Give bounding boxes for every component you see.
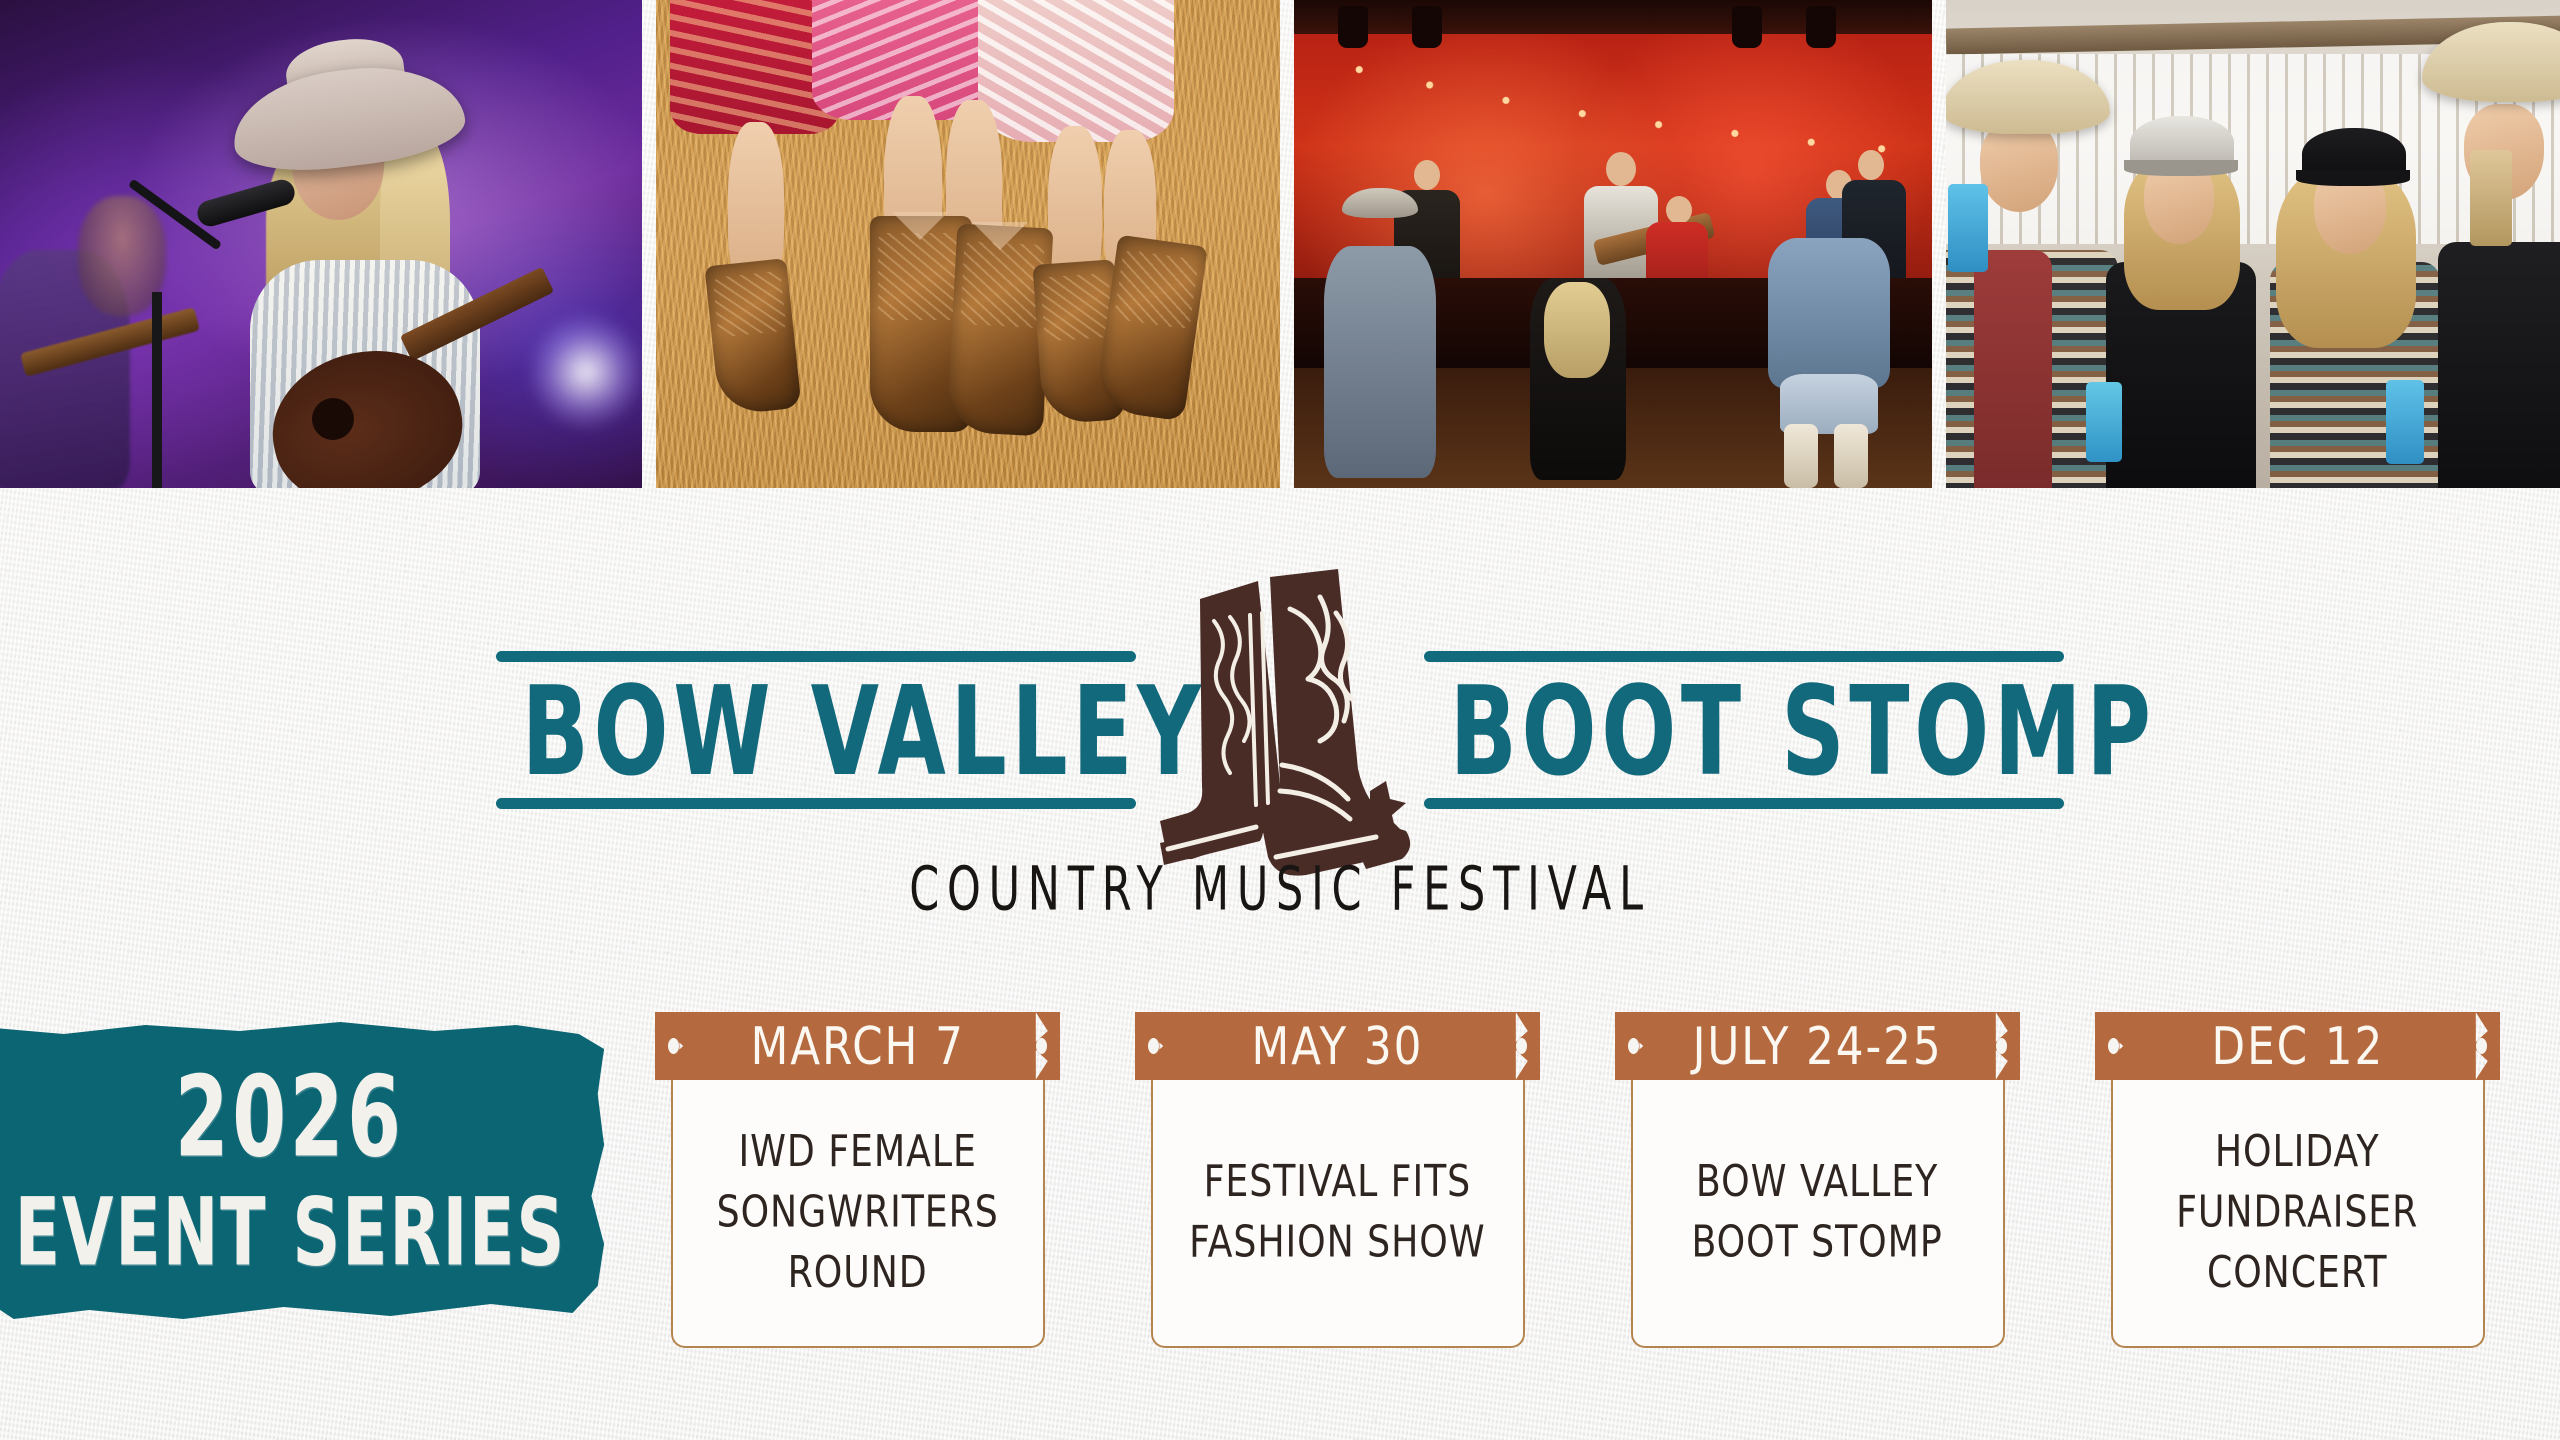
event-card-3[interactable]: JULY 24-25 BOW VALLEYBOOT STOMP: [1615, 1012, 2020, 1362]
badge-label: EVENT SERIES: [14, 1179, 565, 1287]
event-card-body-4: HOLIDAYFUNDRAISERCONCERT: [2111, 1080, 2485, 1348]
event-title-1: IWD FEMALESONGWRITERSROUND: [716, 1123, 998, 1304]
event-card-body-3: BOW VALLEYBOOT STOMP: [1631, 1080, 2005, 1348]
ribbon-dot-left-icon: [1148, 1038, 1159, 1054]
badge-year: 2026: [175, 1053, 405, 1183]
event-card-body-2: FESTIVAL FITSFASHION SHOW: [1151, 1080, 1525, 1348]
event-title-2: FESTIVAL FITSFASHION SHOW: [1189, 1153, 1485, 1274]
logo-word-right: BOOT STOMP: [1450, 675, 2039, 788]
event-title-4: HOLIDAYFUNDRAISERCONCERT: [2176, 1123, 2418, 1304]
event-card-2[interactable]: MAY 30 FESTIVAL FITSFASHION SHOW: [1135, 1012, 1540, 1362]
event-date-ribbon-2: MAY 30: [1135, 1012, 1540, 1080]
event-date-4: DEC 12: [2211, 1016, 2384, 1076]
festival-subtitle: COUNTRY MUSIC FESTIVAL: [179, 854, 2381, 925]
ribbon-dot-left-icon: [1628, 1038, 1639, 1054]
event-date-ribbon-4: DEC 12: [2095, 1012, 2500, 1080]
event-card-1[interactable]: MARCH 7 IWD FEMALESONGWRITERSROUND: [655, 1012, 1060, 1362]
photo-strip: [0, 0, 2560, 488]
photo-singer-purple-stage: [0, 0, 642, 488]
event-date-ribbon-1: MARCH 7: [655, 1012, 1060, 1080]
event-date-ribbon-3: JULY 24-25: [1615, 1012, 2020, 1080]
photo-group-with-drinks: [1946, 0, 2560, 488]
logo-left-block: BOW VALLEY: [496, 651, 1136, 809]
ribbon-dot-left-icon: [2108, 1038, 2119, 1054]
ribbon-dot-right-icon: [1996, 1038, 2007, 1054]
event-series-badge: 2026 EVENT SERIES: [0, 1022, 604, 1322]
event-cards: MARCH 7 IWD FEMALESONGWRITERSROUND MAY 3…: [655, 1012, 2535, 1362]
logo-word-left: BOW VALLEY: [522, 675, 1111, 788]
event-date-2: MAY 30: [1252, 1016, 1424, 1076]
event-card-body-1: IWD FEMALESONGWRITERSROUND: [671, 1080, 1045, 1348]
event-card-4[interactable]: DEC 12 HOLIDAYFUNDRAISERCONCERT: [2095, 1012, 2500, 1362]
logo-right-block: BOOT STOMP: [1424, 651, 2064, 809]
photo-cowboy-boots-grass: [656, 0, 1280, 488]
ribbon-dot-left-icon: [668, 1038, 679, 1054]
event-date-3: JULY 24-25: [1693, 1016, 1943, 1076]
ribbon-dot-right-icon: [1516, 1038, 1527, 1054]
ribbon-dot-right-icon: [1036, 1038, 1047, 1054]
photo-band-red-stage: [1294, 0, 1932, 488]
event-date-1: MARCH 7: [750, 1016, 964, 1076]
ribbon-dot-right-icon: [2476, 1038, 2487, 1054]
festival-logo: BOW VALLEY: [0, 560, 2560, 900]
event-title-3: BOW VALLEYBOOT STOMP: [1692, 1153, 1943, 1274]
